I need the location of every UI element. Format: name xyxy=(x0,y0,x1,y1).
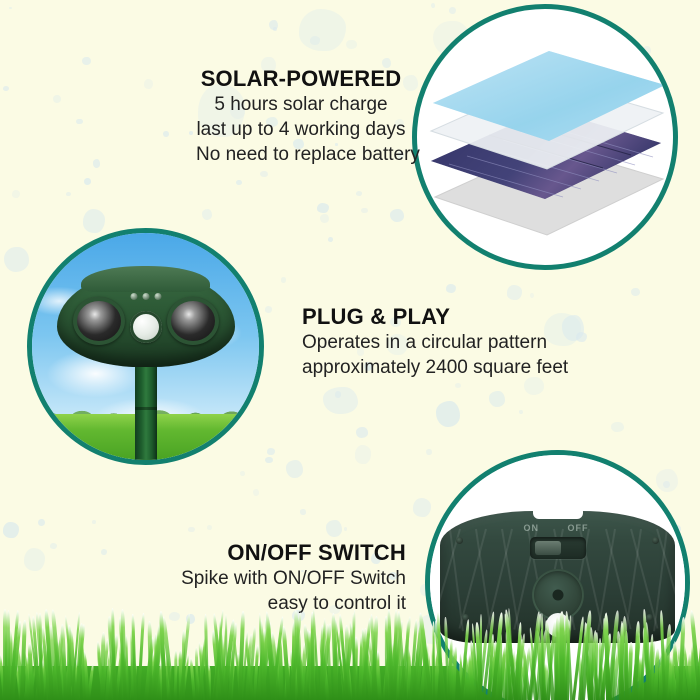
background-blob xyxy=(346,40,357,50)
background-blob xyxy=(413,498,431,517)
background-blob xyxy=(326,520,342,537)
background-blob xyxy=(273,27,277,32)
feature-heading: ON/OFF SWITCH xyxy=(158,540,406,566)
background-blob xyxy=(390,209,404,222)
background-blob xyxy=(4,247,29,273)
background-blob xyxy=(320,214,329,223)
background-blob xyxy=(631,288,640,296)
background-blob xyxy=(355,445,371,463)
background-blob xyxy=(328,237,333,242)
background-blob xyxy=(530,293,534,298)
background-blob xyxy=(83,209,105,233)
background-blob xyxy=(436,401,460,427)
background-blob xyxy=(38,519,45,526)
grass-blade xyxy=(560,611,564,700)
background-blob xyxy=(253,489,259,496)
grass-blade xyxy=(3,609,7,700)
feature-heading: SOLAR-POWERED xyxy=(196,66,406,92)
background-blob xyxy=(611,422,624,433)
background-blob xyxy=(3,522,19,539)
background-blob xyxy=(189,131,193,135)
feature-text-plug-and-play: PLUG & PLAY Operates in a circular patte… xyxy=(302,304,568,380)
solar-panel-illustration xyxy=(417,9,673,265)
background-blob xyxy=(12,190,20,198)
ground-stake xyxy=(135,361,157,465)
background-blob xyxy=(93,159,101,168)
background-blob xyxy=(267,448,274,455)
left-speaker-cone xyxy=(73,297,125,345)
background-blob xyxy=(82,57,91,65)
background-blob xyxy=(300,509,305,514)
background-blob xyxy=(260,171,268,177)
background-blob xyxy=(24,548,45,571)
background-blob xyxy=(519,410,523,414)
background-blob xyxy=(356,427,369,438)
background-blob xyxy=(50,543,57,549)
slide-switch-knob[interactable] xyxy=(535,541,561,555)
indicator-leds xyxy=(130,293,161,300)
background-blob xyxy=(431,3,435,8)
feature-line: Spike with ON/OFF Switch xyxy=(158,566,406,591)
panel-top-notch xyxy=(533,511,583,519)
infographic-canvas: ON OFF SOLAR-POWERED 5 hours solar charg… xyxy=(0,0,700,700)
feature-line: last up to 4 working days xyxy=(196,117,406,142)
background-blob xyxy=(236,180,242,185)
corner-screw xyxy=(456,537,463,544)
background-blob xyxy=(76,119,82,125)
repeller-illustration xyxy=(32,233,259,460)
background-blob xyxy=(361,208,368,214)
background-blob xyxy=(286,460,304,479)
switch-label-off: OFF xyxy=(568,523,589,533)
solar-panel-illustration-circle xyxy=(412,4,678,270)
background-blob xyxy=(323,387,358,415)
feature-heading: PLUG & PLAY xyxy=(302,304,568,330)
feature-text-on-off-switch: ON/OFF SWITCH Spike with ON/OFF Switch e… xyxy=(158,540,406,616)
background-blob xyxy=(84,178,91,185)
background-blob xyxy=(163,131,170,138)
panel-rib xyxy=(475,529,492,631)
corner-screw xyxy=(646,614,653,621)
repeller-head xyxy=(57,271,235,367)
grass-blade xyxy=(147,621,152,700)
feature-line: approximately 2400 square feet xyxy=(302,355,568,380)
solar-panel-exploded-layers-svg xyxy=(417,9,673,265)
background-blob xyxy=(489,391,505,407)
background-blob xyxy=(202,209,213,221)
background-blob xyxy=(455,383,461,388)
background-blob xyxy=(9,7,12,10)
background-blob xyxy=(507,285,522,300)
right-speaker-cone xyxy=(167,297,219,345)
feature-text-solar-powered: SOLAR-POWERED 5 hours solar charge last … xyxy=(196,66,406,167)
background-blob xyxy=(53,95,61,103)
background-blob xyxy=(66,192,71,197)
background-blob xyxy=(344,527,347,531)
background-blob xyxy=(188,527,194,533)
grass-blade xyxy=(7,610,10,700)
repeller-illustration-circle xyxy=(27,228,264,465)
feature-line: 5 hours solar charge xyxy=(196,92,406,117)
background-blob xyxy=(310,36,321,45)
background-blob xyxy=(265,457,273,463)
feature-line: No need to replace battery xyxy=(196,142,406,167)
grass-blade xyxy=(480,614,482,700)
background-blob xyxy=(144,79,153,90)
background-blob xyxy=(240,471,245,476)
feature-line: Operates in a circular pattern xyxy=(302,330,568,355)
background-blob xyxy=(265,306,272,313)
background-blob xyxy=(446,284,456,293)
background-blob xyxy=(101,549,107,555)
slide-switch[interactable] xyxy=(530,537,586,559)
background-blob xyxy=(207,525,212,530)
background-blob xyxy=(3,86,9,91)
background-blob xyxy=(281,277,287,283)
background-blob xyxy=(92,520,96,524)
background-blob xyxy=(317,203,329,213)
pir-motion-sensor xyxy=(130,311,162,343)
background-blob xyxy=(356,191,362,196)
feature-line: easy to control it xyxy=(158,591,406,616)
grass-blade xyxy=(174,650,177,700)
corner-screw xyxy=(652,537,659,544)
switch-label-on: ON xyxy=(524,523,540,533)
background-blob xyxy=(299,9,346,51)
